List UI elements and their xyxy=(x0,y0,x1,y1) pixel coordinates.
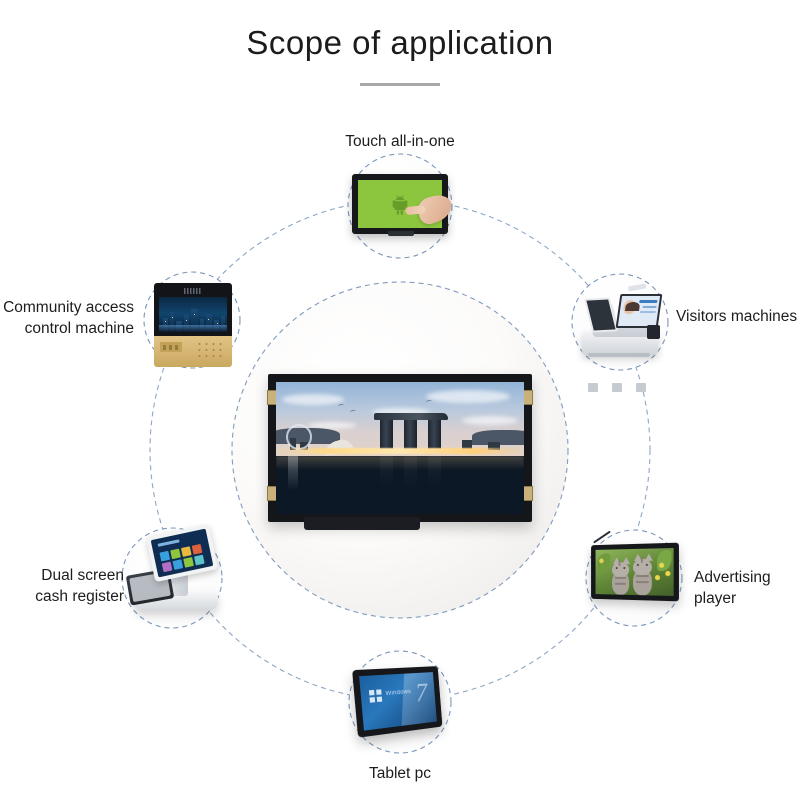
numeric-keypad[interactable] xyxy=(196,341,226,359)
fur-stripe xyxy=(615,577,626,579)
id-card-scanner[interactable] xyxy=(647,325,660,339)
singapore-flyer xyxy=(286,424,312,450)
label-touch-all-in-one: Touch all-in-one xyxy=(300,132,500,153)
flower xyxy=(659,563,664,568)
kitten-eye xyxy=(623,567,625,569)
visitor-photo-hair xyxy=(625,302,640,311)
signage-bezel xyxy=(591,543,679,602)
label-advertising-player: Advertising player xyxy=(694,568,800,610)
center-lcd-panel xyxy=(268,374,532,534)
signage-screen-kittens xyxy=(596,548,674,596)
reflection xyxy=(288,456,298,490)
ui-header-bar xyxy=(158,539,180,547)
lcd-bezel xyxy=(268,374,532,522)
city-light xyxy=(217,323,218,324)
water-reflection xyxy=(159,325,227,332)
digit-segment xyxy=(175,345,178,350)
speaker-grill-icon xyxy=(184,288,202,294)
access-screen-city-skyline xyxy=(159,297,227,332)
reflection-glow xyxy=(276,456,524,470)
fur-stripe xyxy=(615,583,626,585)
waterfront-lights xyxy=(276,448,524,454)
kitten-head xyxy=(612,562,629,577)
ui-tile xyxy=(192,544,203,555)
vent xyxy=(636,383,646,392)
digit-segment xyxy=(163,345,166,350)
kiosk-operator-screen[interactable] xyxy=(584,297,618,332)
ui-bar xyxy=(639,300,657,303)
digit-segment xyxy=(169,345,172,350)
cloud xyxy=(426,390,510,403)
label-tablet-pc: Tablet pc xyxy=(300,764,500,785)
lcd-connector-foot xyxy=(304,517,420,530)
pos-main-display[interactable] xyxy=(146,524,218,582)
ui-tile xyxy=(194,555,205,566)
cloud xyxy=(282,394,344,405)
kiosk-foot xyxy=(588,353,650,357)
flower xyxy=(665,571,670,576)
kitten-eye xyxy=(637,564,639,566)
access-mini-display xyxy=(160,342,182,352)
screen-glare xyxy=(400,672,436,731)
ui-tile xyxy=(162,562,173,573)
lcd-screen-marina-bay xyxy=(276,382,524,514)
windows-logo-icon xyxy=(369,689,383,703)
access-panel-keypad-body[interactable] xyxy=(154,336,232,367)
kitten-eye xyxy=(616,567,618,569)
kiosk-visitor-screen[interactable] xyxy=(616,294,663,328)
kitten-ear xyxy=(622,557,630,564)
scope-of-application-infographic: Scope of application xyxy=(0,0,800,800)
label-community-access-control-machine: Community access control machine xyxy=(2,298,134,340)
city-light xyxy=(172,317,173,318)
pos-main-screen xyxy=(151,529,214,578)
camera-arm xyxy=(628,283,647,291)
city-light xyxy=(186,320,187,321)
skypark-deck xyxy=(374,413,448,420)
fur-stripe xyxy=(636,575,649,577)
city-light xyxy=(194,314,195,315)
tower xyxy=(428,418,441,450)
device-dual-screen-cash-register[interactable] xyxy=(128,528,222,616)
ui-tile xyxy=(181,546,192,557)
device-advertising-player[interactable] xyxy=(588,540,680,604)
fur-stripe xyxy=(619,560,621,566)
visitor-photo xyxy=(623,300,637,314)
device-community-access-control-machine[interactable] xyxy=(154,283,232,367)
ui-tile xyxy=(183,557,194,568)
label-visitors-machines: Visitors machines xyxy=(676,307,800,328)
ui-bar xyxy=(642,306,656,308)
tower xyxy=(380,418,393,450)
ui-tile xyxy=(170,549,181,560)
kitten-ear xyxy=(645,554,653,561)
tablet-pc-bezel: Windows 7 xyxy=(352,666,442,738)
ui-tile xyxy=(159,551,170,562)
tablet-pc-screen-windows7: Windows 7 xyxy=(359,672,437,731)
tablet-base xyxy=(388,231,414,236)
ui-bar xyxy=(640,311,656,313)
device-visitors-machines[interactable] xyxy=(578,285,662,359)
flower xyxy=(599,558,604,563)
ui-tile xyxy=(172,559,183,570)
label-dual-screen-cash-register: Dual screen cash register xyxy=(6,566,124,608)
device-touch-all-in-one[interactable] xyxy=(352,174,448,240)
vent xyxy=(612,383,622,392)
city-light xyxy=(165,321,166,322)
device-tablet-pc[interactable]: Windows 7 xyxy=(356,668,446,740)
flower xyxy=(655,575,660,580)
fur-stripe xyxy=(636,581,649,583)
city-light xyxy=(208,319,209,320)
vent xyxy=(588,383,598,392)
fur-stripe xyxy=(641,557,643,563)
tower xyxy=(404,416,417,450)
kitten-eye xyxy=(646,564,648,566)
index-finger xyxy=(405,205,426,215)
access-panel-top xyxy=(154,283,232,336)
cloud xyxy=(462,416,518,425)
